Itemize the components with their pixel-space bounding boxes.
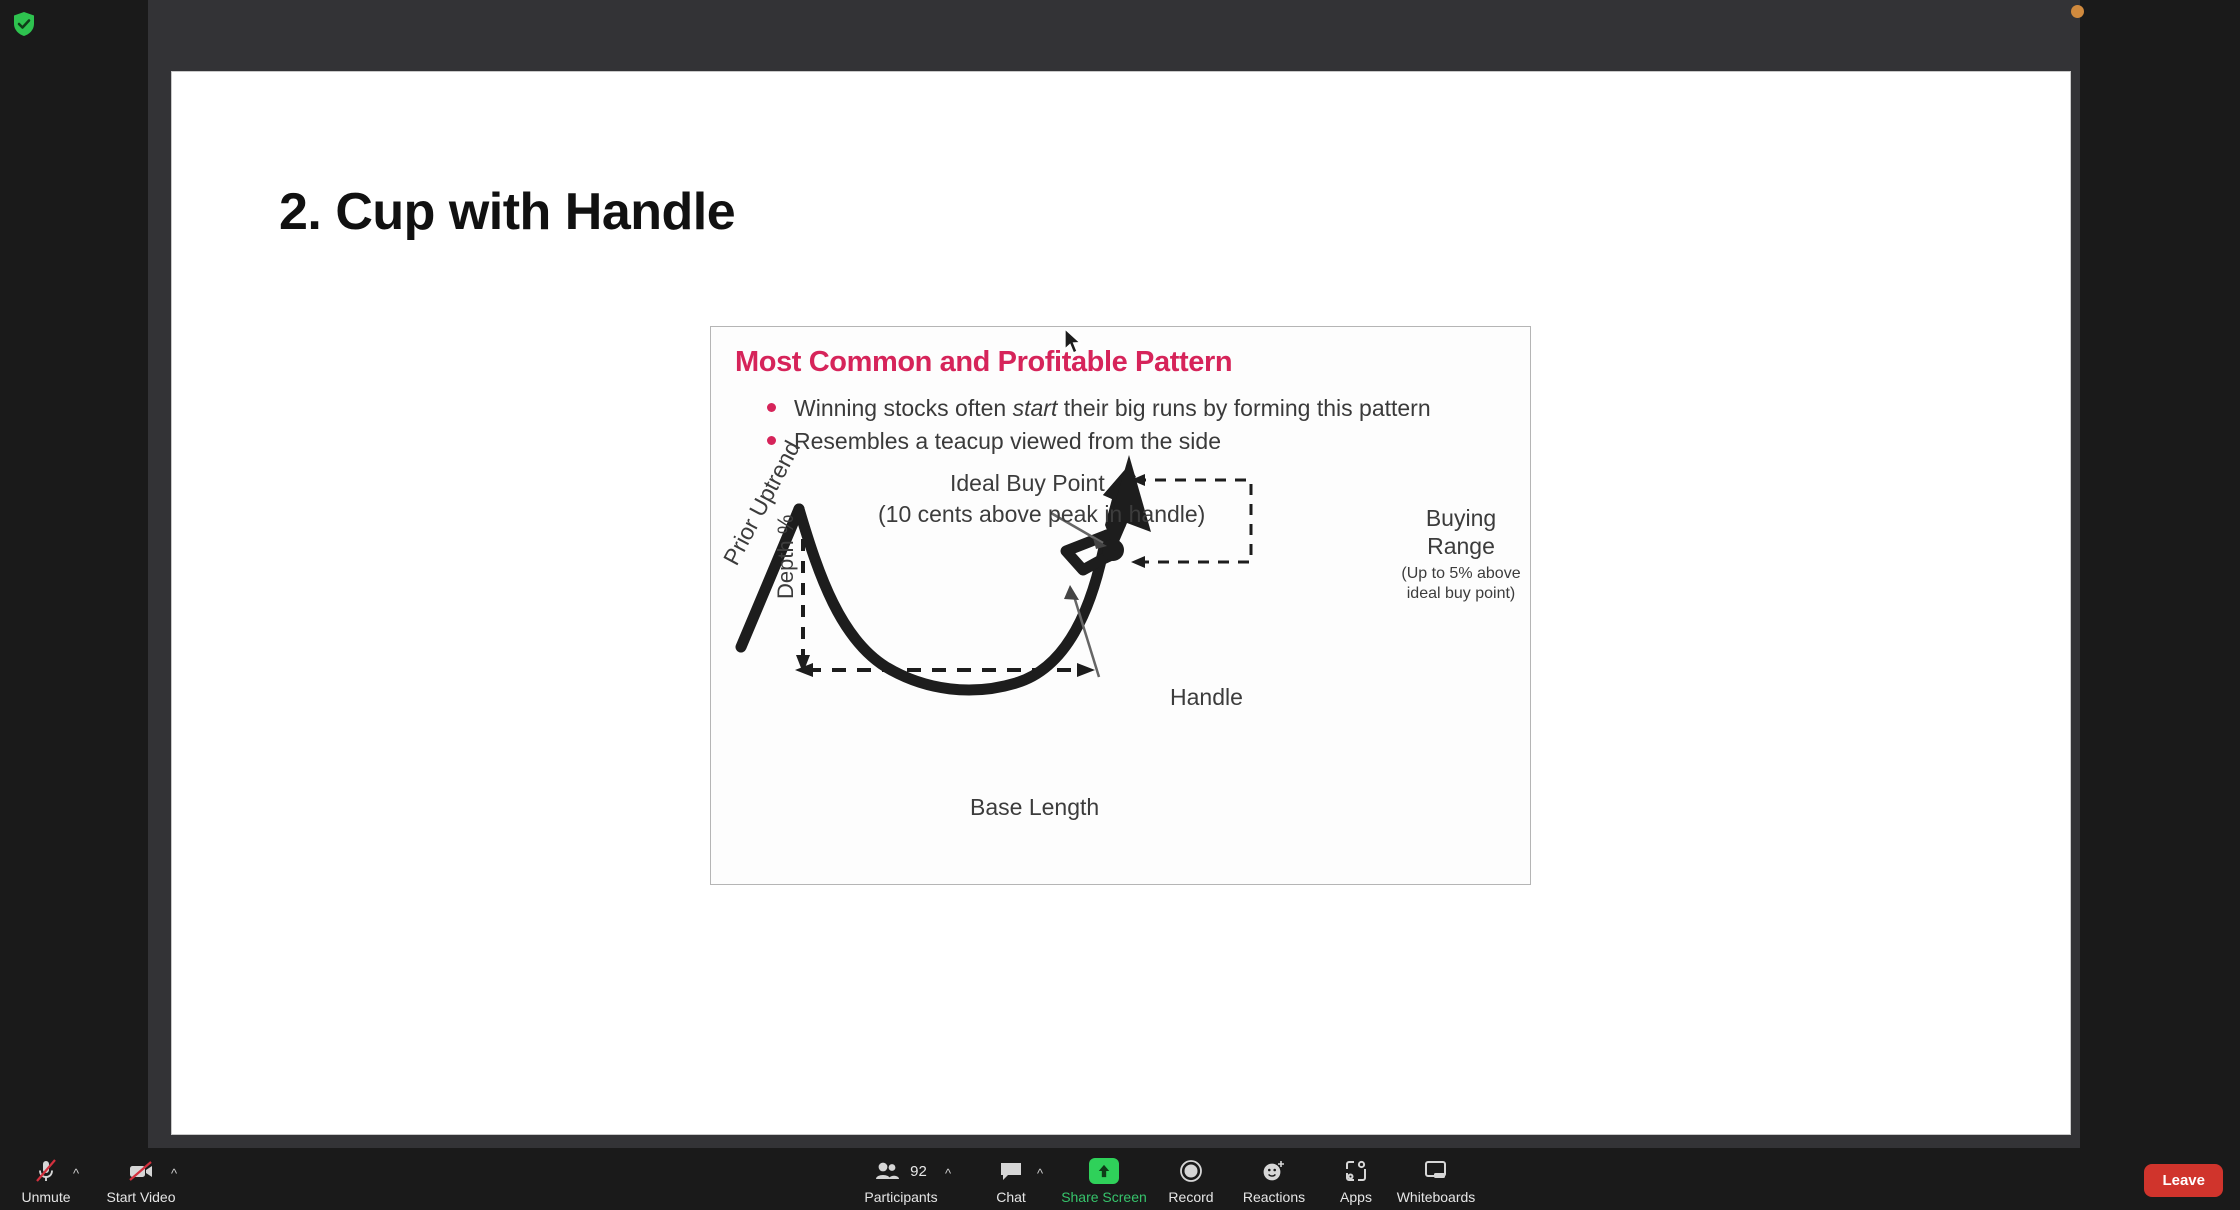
- participants-label: Participants: [864, 1189, 937, 1205]
- audio-options-chevron-up-icon[interactable]: ^: [68, 1166, 84, 1182]
- share-screen-up-arrow-icon: [1089, 1157, 1119, 1185]
- label-buying-range-detail: (Up to 5% above ideal buy point): [1383, 564, 1531, 603]
- leave-button[interactable]: Leave: [2144, 1164, 2223, 1197]
- participants-options-chevron-up-icon[interactable]: ^: [940, 1166, 956, 1182]
- page-title: 2. Cup with Handle: [279, 182, 735, 242]
- zoom-toolbar: Unmute ^ Start Video ^: [0, 1148, 2240, 1210]
- apps-label: Apps: [1340, 1189, 1372, 1205]
- whiteboards-label: Whiteboards: [1397, 1189, 1476, 1205]
- record-circle-icon: [1179, 1157, 1203, 1185]
- label-ideal-buy-point-detail: (10 cents above peak in handle): [878, 501, 1205, 528]
- video-options-chevron-up-icon[interactable]: ^: [166, 1166, 182, 1182]
- label-handle: Handle: [1170, 684, 1243, 711]
- chat-label: Chat: [996, 1189, 1026, 1205]
- label-buying-range: Buying: [1398, 505, 1524, 532]
- participants-icon: 92: [875, 1157, 927, 1185]
- recording-status-dot: [2071, 5, 2084, 18]
- reactions-button[interactable]: Reactions: [1228, 1157, 1320, 1205]
- microphone-muted-icon: [33, 1157, 59, 1185]
- shared-slide: 2. Cup with Handle Most Common and Profi…: [172, 72, 2070, 1134]
- chat-options-chevron-up-icon[interactable]: ^: [1032, 1166, 1048, 1182]
- start-video-label: Start Video: [106, 1189, 175, 1205]
- share-screen-label: Share Screen: [1061, 1189, 1147, 1205]
- zoom-meeting-window: 2. Cup with Handle Most Common and Profi…: [0, 0, 2240, 1210]
- label-buying-range: Range: [1398, 533, 1524, 560]
- apps-button[interactable]: Apps: [1310, 1157, 1402, 1205]
- cup-with-handle-diagram: [711, 327, 1530, 884]
- share-screen-button[interactable]: Share Screen: [1058, 1157, 1150, 1205]
- record-button[interactable]: Record: [1145, 1157, 1237, 1205]
- chat-bubble-icon: [999, 1157, 1023, 1185]
- video-off-icon: [127, 1157, 155, 1185]
- participants-button[interactable]: 92 Participants: [855, 1157, 947, 1205]
- whiteboards-button[interactable]: Whiteboards: [1390, 1157, 1482, 1205]
- unmute-label: Unmute: [21, 1189, 70, 1205]
- cup-with-handle-figure: Most Common and Profitable Pattern Winni…: [710, 326, 1531, 885]
- label-ideal-buy-point: Ideal Buy Point: [950, 470, 1105, 497]
- reactions-label: Reactions: [1243, 1189, 1305, 1205]
- shield-check-icon[interactable]: [12, 11, 36, 37]
- label-base-length: Base Length: [970, 794, 1099, 821]
- participants-count: 92: [910, 1163, 927, 1180]
- label-depth-percent: Depth %: [773, 515, 799, 599]
- apps-icon: [1344, 1157, 1368, 1185]
- record-label: Record: [1168, 1189, 1213, 1205]
- smiley-reactions-icon: [1261, 1157, 1287, 1185]
- whiteboard-icon: [1423, 1157, 1449, 1185]
